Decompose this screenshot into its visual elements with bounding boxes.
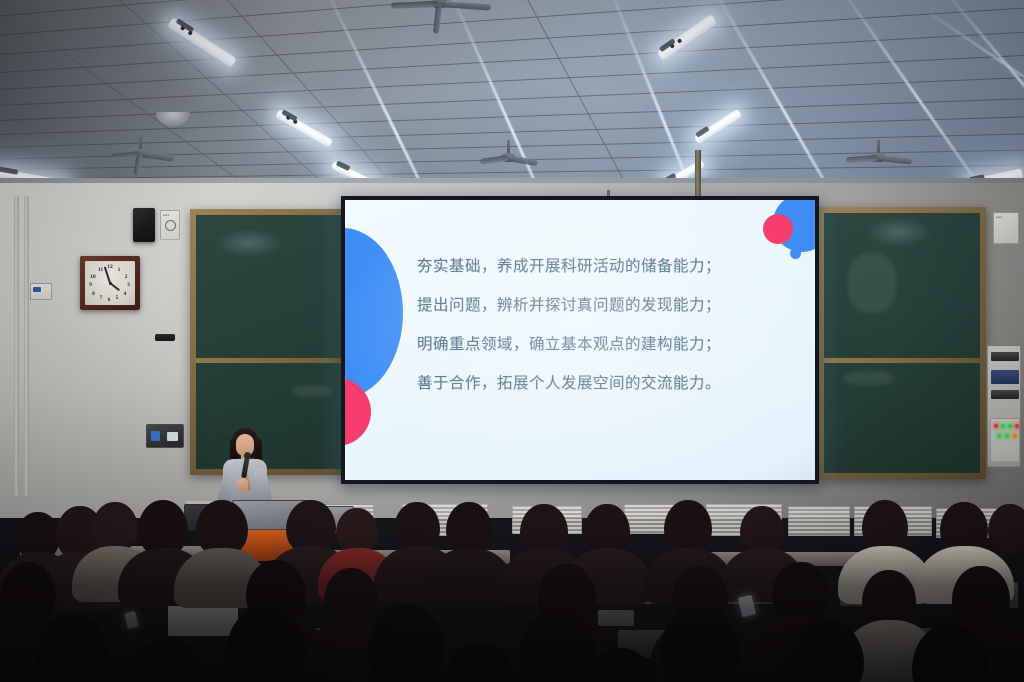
fixture-label: ●●●	[996, 215, 1002, 219]
clock-number: 12	[107, 264, 113, 270]
audience-head	[368, 604, 444, 682]
panel-strip-top	[991, 352, 1019, 361]
clock-number: 7	[100, 295, 103, 301]
clock-number: 8	[92, 291, 95, 297]
led-green	[1008, 424, 1012, 428]
slide-line: 善于合作，拓展个人发展空间的交流能力。	[417, 375, 761, 392]
audience-head	[664, 500, 712, 554]
display-white-region	[167, 432, 178, 441]
clock-number: 11	[98, 267, 103, 273]
led-green	[1005, 434, 1009, 438]
slide-decor-blue-small	[790, 248, 801, 259]
clock-center-pin	[109, 282, 112, 285]
blackboard-glare	[214, 229, 284, 257]
audience	[0, 478, 1024, 682]
panel-strip-blue	[991, 370, 1019, 384]
led-green	[997, 434, 1001, 438]
clock-number: 9	[89, 282, 92, 288]
blackboard-right	[818, 207, 986, 479]
wall-conduit-pipe	[14, 196, 19, 496]
clock-number: 3	[127, 282, 130, 288]
wall-control-display[interactable]	[146, 424, 184, 448]
audience-head	[988, 504, 1024, 554]
lecture-hall-photo: 12 1 2 3 4 5 6 7 8 9 10 11 ●●● ●●●	[0, 0, 1024, 682]
clock-number: 2	[125, 274, 128, 280]
wall-conduit-pipe	[24, 196, 29, 496]
phone-screen[interactable]	[124, 611, 139, 629]
led-red	[1015, 424, 1019, 428]
audience-head	[444, 644, 516, 682]
slide-line: 明确重点领域，确立基本观点的建构能力；	[417, 336, 761, 353]
led-red	[994, 424, 998, 428]
led-green	[1001, 424, 1005, 428]
wall-emergency-box	[30, 283, 52, 300]
panel-led-cluster[interactable]	[990, 418, 1020, 462]
slide-line: 提出问题，辨析并探讨真问题的发现能力；	[417, 297, 761, 314]
emergency-box-panel	[33, 287, 41, 292]
ceiling-fan	[848, 140, 908, 170]
clock-face: 12 1 2 3 4 5 6 7 8 9 10 11	[85, 261, 135, 305]
fixture-label: ●●●	[163, 213, 169, 217]
paper-stack	[598, 610, 634, 626]
classroom-control-panel[interactable]	[987, 345, 1021, 467]
chalk-residue	[848, 253, 896, 313]
slide-decor-pink-topright	[763, 214, 793, 244]
blackboard-glare	[866, 217, 932, 247]
audience-head	[446, 502, 492, 554]
blackboard-surface	[824, 213, 980, 473]
clock-number: 6	[108, 297, 111, 303]
slide-line: 夯实基础，养成开展科研活动的储备能力；	[417, 258, 761, 275]
audience-head	[740, 506, 784, 554]
wall-sensor-bar	[155, 334, 175, 341]
ceiling-fan	[110, 136, 170, 166]
panel-strip-mid	[991, 390, 1019, 399]
slide-decor-blue-large	[345, 228, 403, 398]
audience-head	[132, 638, 202, 682]
wall-clock: 12 1 2 3 4 5 6 7 8 9 10 11	[80, 256, 140, 310]
ceiling-fan	[480, 140, 536, 168]
projection-screen[interactable]: 夯实基础，养成开展科研活动的储备能力； 提出问题，辨析并探讨真问题的发现能力； …	[345, 200, 815, 480]
ceiling-fan	[394, 0, 484, 22]
wall-ceiling-junction	[0, 178, 1024, 183]
audience-head	[92, 502, 138, 552]
projection-screen-frame: 夯实基础，养成开展科研活动的储备能力； 提出问题，辨析并探讨真问题的发现能力； …	[341, 196, 819, 484]
audience-head	[324, 568, 378, 628]
audience-head	[394, 502, 440, 552]
audience-head	[660, 606, 740, 682]
clock-number: 10	[90, 274, 96, 280]
clock-number: 4	[124, 291, 127, 297]
clock-number: 5	[116, 295, 119, 301]
display-blue-region	[151, 431, 160, 441]
wall-alarm-fixture: ●●●	[160, 210, 180, 240]
chalk-residue	[292, 385, 332, 397]
ceiling	[0, 0, 1024, 205]
wall-alarm-fixture-right: ●●●	[993, 212, 1019, 244]
audience-head	[36, 614, 108, 682]
wall-speaker	[133, 208, 155, 242]
chalk-residue	[844, 371, 894, 385]
slide-body-text: 夯实基础，养成开展科研活动的储备能力； 提出问题，辨析并探讨真问题的发现能力； …	[417, 258, 761, 392]
led-amber	[1013, 434, 1017, 438]
blackboard-divider	[824, 358, 980, 363]
blackboard-divider	[196, 358, 344, 363]
clock-number: 1	[118, 267, 121, 273]
audience-head	[862, 500, 908, 552]
fixture-ring-icon	[165, 220, 176, 231]
